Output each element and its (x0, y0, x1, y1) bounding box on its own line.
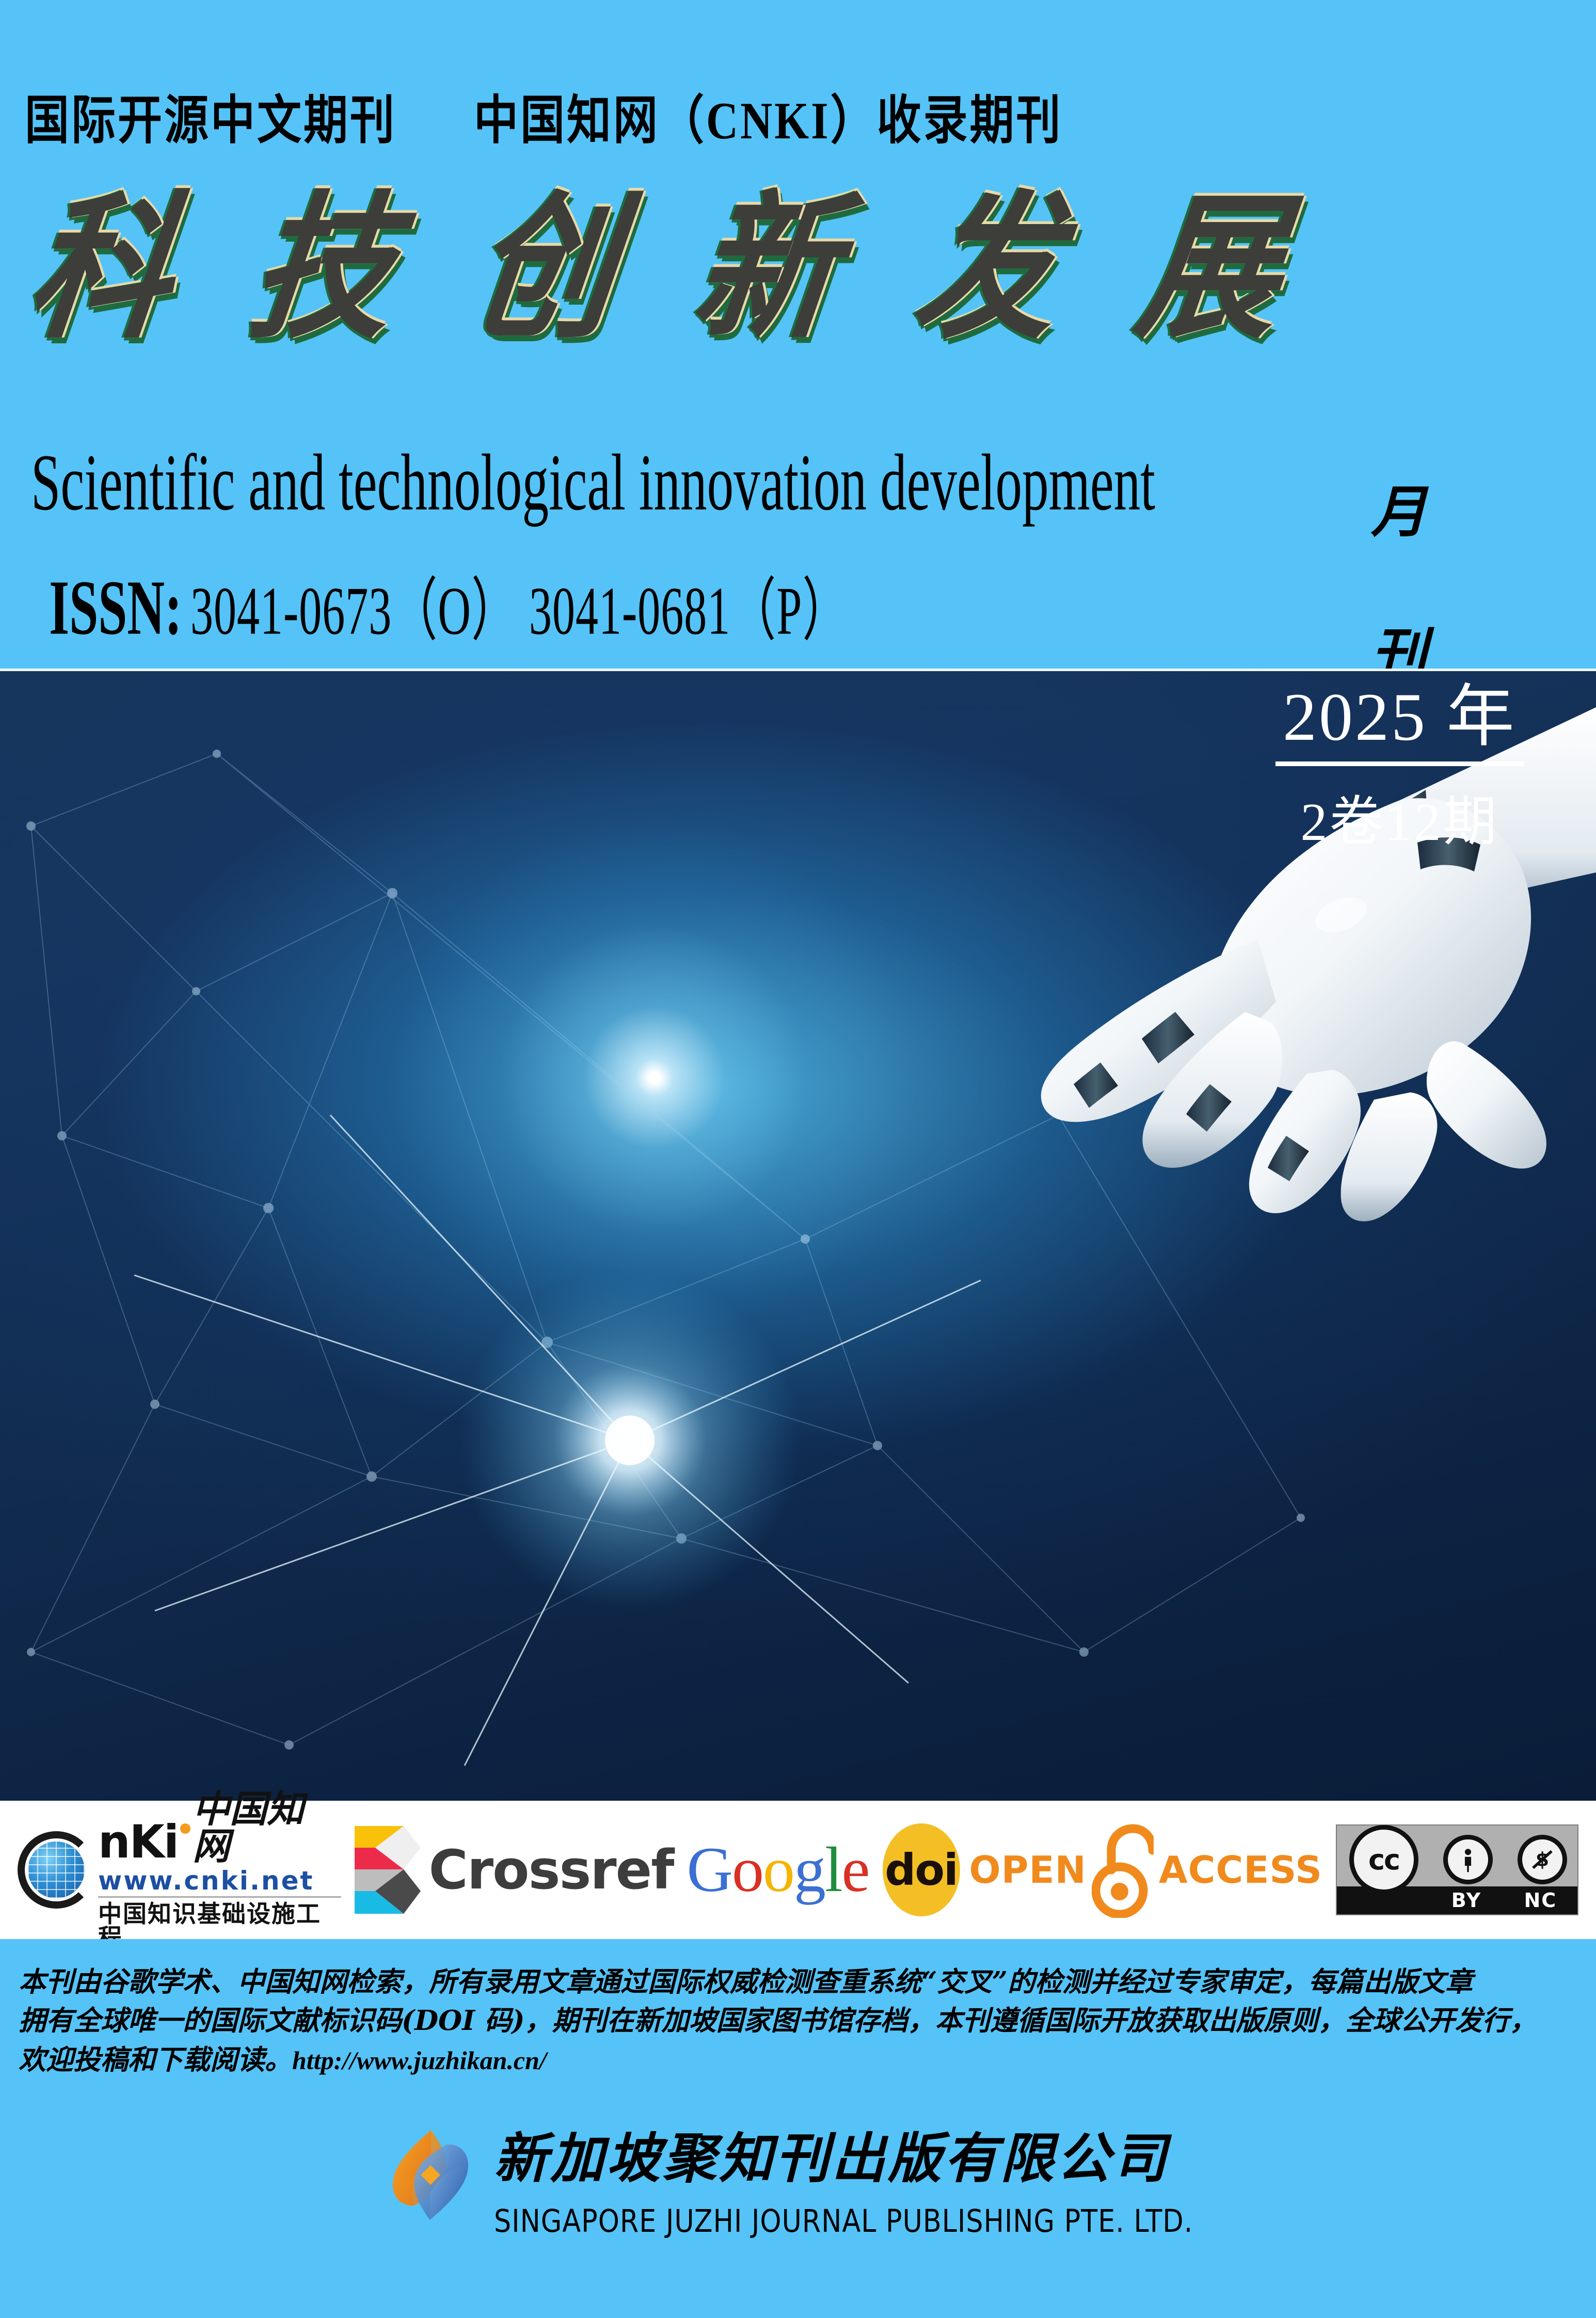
google-letter-1: G (687, 1834, 732, 1905)
header-kicker: 国际开源中文期刊 中国知网（CNKI）收录期刊 (25, 77, 1109, 154)
creative-commons-badge[interactable]: cc $ BY NC (1336, 1824, 1578, 1915)
footer-notice: 本刊由谷歌学术、中国知网检索，所有录用文章通过国际权威检测查重系统“交叉”的检测… (19, 1963, 1579, 2079)
issn-label: ISSN: (49, 563, 182, 653)
issn-line: ISSN: 3041-0673（O） 3041-0681（P） (49, 555, 848, 654)
journal-title-chinese: 科 技 创 新 发 展 (31, 191, 1280, 346)
open-lock-icon (1092, 1822, 1154, 1918)
issue-volume-number: 2卷12期 (1275, 777, 1524, 855)
title-char-3: 创 (465, 190, 624, 347)
footer-notice-line-3: 欢迎投稿和下载阅读。http://www.juzhikan.cn/ (19, 2041, 1579, 2079)
cnki-logo[interactable]: nKi 中国知网 www.cnki.net 中国知识基础设施工程 (18, 1790, 341, 1949)
cc-nc-dollar-icon: $ (1518, 1835, 1567, 1884)
cc-nc-label: NC (1504, 1889, 1577, 1912)
issn-value: 3041-0673（O） 3041-0681（P） (190, 555, 848, 654)
dollar-slash-glyph: $ (1528, 1846, 1556, 1874)
cnki-globe-icon (18, 1831, 95, 1909)
cnki-logo-text: nKi 中国知网 www.cnki.net 中国知识基础设施工程 (98, 1790, 341, 1949)
journal-title-english: Scientific and technological innovation … (31, 436, 1155, 529)
publisher-leaf-icon (381, 2126, 480, 2224)
cc-icon-row: cc $ (1337, 1829, 1579, 1891)
publisher-name-chinese: 新加坡聚知刊出版有限公司 (494, 2115, 1215, 2193)
doi-open-access-logo[interactable]: doi OPEN ACCESS (883, 1822, 1322, 1918)
title-char-6: 展 (1130, 190, 1289, 347)
google-letter-3: o (763, 1834, 794, 1905)
kicker-right-text: 中国知网（CNKI）收录期刊 (474, 77, 1063, 154)
journal-website-url[interactable]: http://www.juzhikan.cn/ (292, 2046, 547, 2075)
issue-year: 2025 年 (1275, 681, 1524, 766)
title-char-4: 新 (687, 190, 846, 347)
footer-band: 本刊由谷歌学术、中国知网检索，所有录用文章通过国际权威检测查重系统“交叉”的检测… (0, 1939, 1596, 2318)
cnki-dot-icon (180, 1823, 190, 1834)
crossref-wordmark: Crossref (429, 1838, 674, 1901)
open-access-logo: OPEN ACCESS (969, 1822, 1322, 1918)
cc-by-label: BY (1429, 1889, 1503, 1912)
footer-notice-line-3-text: 欢迎投稿和下载阅读。 (19, 2044, 292, 2076)
footer-notice-line-1: 本刊由谷歌学术、中国知网检索，所有录用文章通过国际权威检测查重系统“交叉”的检测… (19, 1963, 1579, 2002)
doi-badge: doi (883, 1823, 960, 1916)
google-letter-6: e (841, 1834, 869, 1905)
google-letter-2: o (732, 1834, 763, 1905)
title-char-2: 技 (243, 190, 403, 347)
indexing-logo-bar: nKi 中国知网 www.cnki.net 中国知识基础设施工程 Crossre… (0, 1801, 1596, 1939)
publisher-text: 新加坡聚知刊出版有限公司 SINGAPORE JUZHI JOURNAL PUB… (494, 2115, 1215, 2235)
header-band: 国际开源中文期刊 中国知网（CNKI）收录期刊 科 技 创 新 发 展 Scie… (0, 0, 1596, 669)
cc-by-person-icon (1443, 1835, 1493, 1884)
cnki-chinese-name: 中国知网 (193, 1790, 341, 1865)
publisher-name-english: SINGAPORE JUZHI JOURNAL PUBLISHING PTE. … (494, 2203, 1193, 2240)
title-char-5: 发 (908, 190, 1068, 347)
footer-notice-line-2: 拥有全球唯一的国际文献标识码(DOI 码)，期刊在新加坡国家图书馆存档，本刊遵循… (19, 2002, 1579, 2040)
journal-cover: 国际开源中文期刊 中国知网（CNKI）收录期刊 科 技 创 新 发 展 Scie… (0, 0, 1596, 2318)
google-letter-4: g (794, 1834, 825, 1905)
cnki-url[interactable]: www.cnki.net (98, 1868, 341, 1898)
kicker-left-text: 国际开源中文期刊 (25, 77, 396, 154)
publisher-block: 新加坡聚知刊出版有限公司 SINGAPORE JUZHI JOURNAL PUB… (0, 2115, 1596, 2235)
frequency-char-1: 月 (1371, 467, 1427, 548)
cnki-wordmark: nKi (98, 1819, 178, 1865)
open-access-open-text: OPEN (969, 1848, 1087, 1892)
issue-block: 2025 年 2卷12期 (1275, 681, 1524, 855)
person-glyph (1455, 1846, 1481, 1873)
crossref-chevron-icon (355, 1826, 422, 1914)
google-letter-5: l (825, 1834, 841, 1905)
title-char-1: 科 (21, 190, 181, 347)
cc-icon: cc (1349, 1825, 1418, 1894)
google-logo[interactable]: Google (687, 1833, 869, 1907)
open-access-access-text: ACCESS (1159, 1848, 1322, 1892)
frequency-vertical-label: 月 刊 (1358, 467, 1440, 690)
cover-photo: 2025 年 2卷12期 (0, 669, 1596, 1801)
crossref-logo[interactable]: Crossref (355, 1826, 674, 1914)
